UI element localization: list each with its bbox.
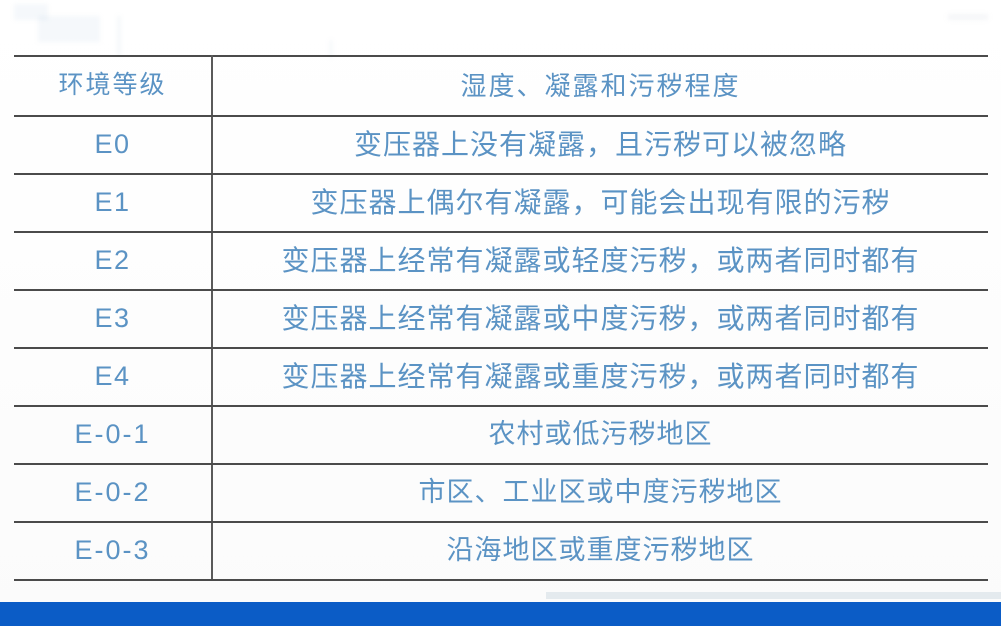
cell-description: 变压器上经常有凝露或重度污秽，或两者同时都有 bbox=[212, 348, 988, 406]
environment-grade-table: 环境等级 湿度、凝露和污秽程度 E0 变压器上没有凝露，且污秽可以被忽略 E1 … bbox=[14, 55, 988, 581]
scan-artifact bbox=[38, 16, 100, 42]
cell-grade: E4 bbox=[14, 348, 212, 406]
cell-description: 变压器上偶尔有凝露，可能会出现有限的污秽 bbox=[212, 174, 988, 232]
column-header-grade: 环境等级 bbox=[14, 56, 212, 116]
table-row: E0 变压器上没有凝露，且污秽可以被忽略 bbox=[14, 116, 988, 174]
cell-grade: E-0-2 bbox=[14, 464, 212, 522]
table-row: E1 变压器上偶尔有凝露，可能会出现有限的污秽 bbox=[14, 174, 988, 232]
table-row: E2 变压器上经常有凝露或轻度污秽，或两者同时都有 bbox=[14, 232, 988, 290]
cell-grade: E-0-3 bbox=[14, 522, 212, 580]
cell-grade: E1 bbox=[14, 174, 212, 232]
cell-description: 变压器上经常有凝露或轻度污秽，或两者同时都有 bbox=[212, 232, 988, 290]
cell-description: 沿海地区或重度污秽地区 bbox=[212, 522, 988, 580]
cell-grade: E3 bbox=[14, 290, 212, 348]
cell-grade: E-0-1 bbox=[14, 406, 212, 464]
footer-accent-bar bbox=[0, 602, 1001, 626]
environment-grade-table-container: 环境等级 湿度、凝露和污秽程度 E0 变压器上没有凝露，且污秽可以被忽略 E1 … bbox=[14, 55, 988, 581]
table-header-row: 环境等级 湿度、凝露和污秽程度 bbox=[14, 56, 988, 116]
table-row: E4 变压器上经常有凝露或重度污秽，或两者同时都有 bbox=[14, 348, 988, 406]
scan-artifact bbox=[948, 14, 988, 20]
cell-description: 市区、工业区或中度污秽地区 bbox=[212, 464, 988, 522]
cell-grade: E2 bbox=[14, 232, 212, 290]
table-row: E-0-3 沿海地区或重度污秽地区 bbox=[14, 522, 988, 580]
table-row: E-0-2 市区、工业区或中度污秽地区 bbox=[14, 464, 988, 522]
cell-description: 农村或低污秽地区 bbox=[212, 406, 988, 464]
table-row: E-0-1 农村或低污秽地区 bbox=[14, 406, 988, 464]
cell-description: 变压器上经常有凝露或中度污秽，或两者同时都有 bbox=[212, 290, 988, 348]
scan-artifact bbox=[118, 16, 120, 56]
column-header-description: 湿度、凝露和污秽程度 bbox=[212, 56, 988, 116]
cell-description: 变压器上没有凝露，且污秽可以被忽略 bbox=[212, 116, 988, 174]
footer-shadow-strip bbox=[546, 592, 1001, 599]
cell-grade: E0 bbox=[14, 116, 212, 174]
table-row: E3 变压器上经常有凝露或中度污秽，或两者同时都有 bbox=[14, 290, 988, 348]
